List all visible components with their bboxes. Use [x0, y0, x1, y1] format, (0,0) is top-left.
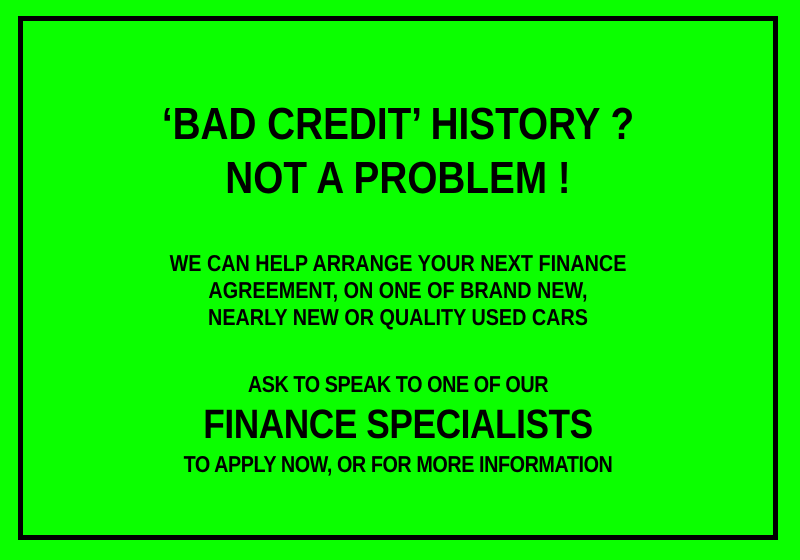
poster-content: ‘BAD CREDIT’ HISTORY ? NOT A PROBLEM ! W… [23, 21, 773, 535]
headline-line-2: NOT A PROBLEM ! [76, 151, 721, 205]
finance-advert-poster: ‘BAD CREDIT’ HISTORY ? NOT A PROBLEM ! W… [0, 0, 800, 560]
cta-highlight-line: FINANCE SPECIALISTS [76, 399, 721, 449]
call-to-action-block: ASK TO SPEAK TO ONE OF OUR FINANCE SPECI… [23, 369, 773, 479]
cta-intro-line: ASK TO SPEAK TO ONE OF OUR [76, 369, 721, 399]
body-line-1: WE CAN HELP ARRANGE YOUR NEXT FINANCE [76, 250, 721, 277]
body-line-2: AGREEMENT, ON ONE OF BRAND NEW, [76, 277, 721, 304]
body-line-3: NEARLY NEW OR QUALITY USED CARS [76, 304, 721, 331]
headline-line-1: ‘BAD CREDIT’ HISTORY ? [76, 97, 721, 151]
cta-footer-line: TO APPLY NOW, OR FOR MORE INFORMATION [76, 449, 721, 479]
headline-block: ‘BAD CREDIT’ HISTORY ? NOT A PROBLEM ! [23, 97, 773, 205]
body-text-block: WE CAN HELP ARRANGE YOUR NEXT FINANCE AG… [23, 250, 773, 331]
